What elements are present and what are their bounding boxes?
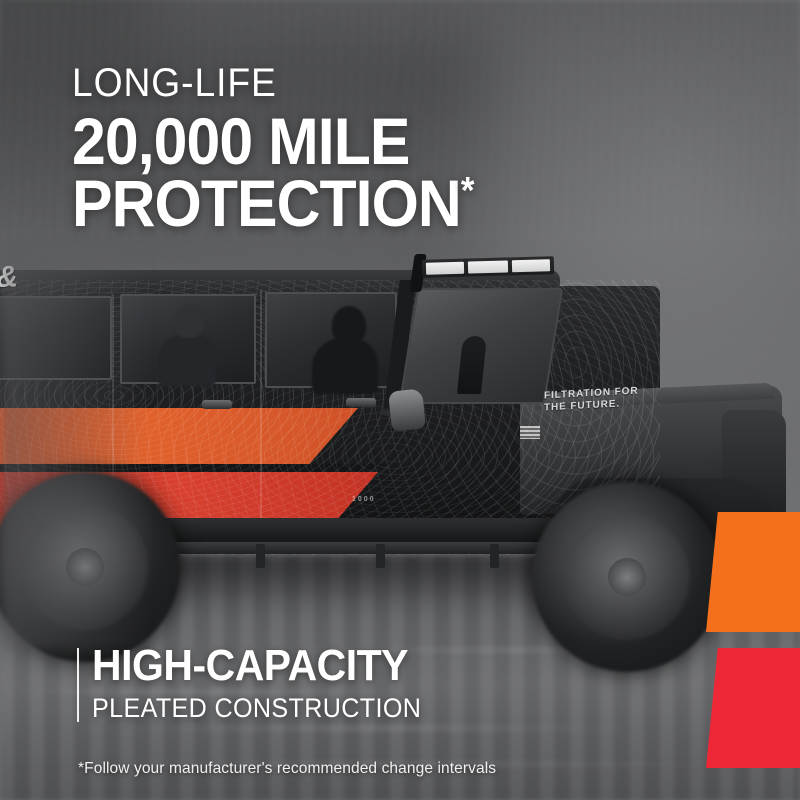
headline-line-2-text: PROTECTION [72,166,461,240]
brand-shape-red [706,648,800,768]
door-handle [202,400,232,409]
kn-filter-advertisement: 1000 FILTRATION FOR THE FUTURE. K& N [0,0,800,800]
kn-logo-wordmark: K& N [0,264,18,321]
body-badge: 1000 [352,496,376,503]
kn-logo-line-2: N [0,292,18,321]
kn-logo-line-1: K& [0,264,17,293]
headline-asterisk: * [461,170,474,212]
side-mirror [388,388,426,431]
body-graphic-orange-band [0,408,358,466]
door-seam [260,290,262,548]
headline-line-2: PROTECTION* [72,172,474,234]
brand-shape-orange [706,512,800,632]
led-segment [468,260,508,273]
slider-leg [490,544,499,568]
subhead-divider [77,648,79,722]
body-graphic-gap [0,464,390,473]
front-hub [608,558,646,596]
subhead-line-2: PLEATED CONSTRUCTION [92,692,421,724]
door-handle [346,398,376,407]
passenger-silhouette [158,334,216,386]
led-segment [512,259,550,272]
subhead-block: HIGH-CAPACITY PLEATED CONSTRUCTION [92,642,446,724]
motion-streak [120,726,640,730]
rear-hub [66,548,104,586]
slider-leg [376,544,385,568]
roof-light-bar [422,256,554,278]
slider-leg [256,544,265,568]
hood-decal-text: FILTRATION FOR THE FUTURE. [544,386,638,415]
headline-line-1: 20,000 MILE [72,110,474,172]
kn-logo: K& N [0,261,73,330]
footnote-disclaimer: *Follow your manufacturer's recommended … [78,760,496,778]
headline-block: LONG-LIFE 20,000 MILE PROTECTION* [72,60,508,234]
vehicle-suv: 1000 FILTRATION FOR THE FUTURE. K& N [0,250,780,650]
driver-silhouette [312,338,378,394]
led-segment [426,262,464,275]
passenger-head [174,304,204,338]
driver-head [332,306,366,344]
subhead-line-1: HIGH-CAPACITY [92,642,421,690]
flag-decal [520,426,540,439]
headline-eyebrow: LONG-LIFE [72,60,478,106]
